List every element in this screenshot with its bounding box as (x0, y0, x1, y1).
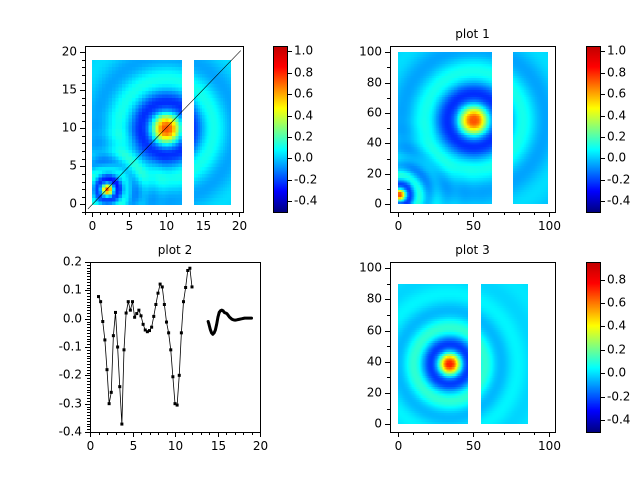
panel-plot0 (38, 18, 328, 240)
plot-canvas-plot0[interactable] (38, 18, 328, 240)
figure-canvas: plot 1 plot 2 plot 3 (0, 0, 640, 480)
plot-title-plot3: plot 3 (348, 243, 597, 257)
panel-plot2: plot 2 (38, 240, 328, 480)
plot-title-plot1: plot 1 (348, 27, 597, 41)
plot-canvas-plot3[interactable] (348, 240, 640, 480)
panel-plot3: plot 3 (348, 240, 640, 480)
panel-plot1: plot 1 (348, 18, 640, 240)
plot-canvas-plot2[interactable] (38, 240, 328, 480)
plot-canvas-plot1[interactable] (348, 18, 640, 240)
plot-title-plot2: plot 2 (38, 243, 312, 257)
